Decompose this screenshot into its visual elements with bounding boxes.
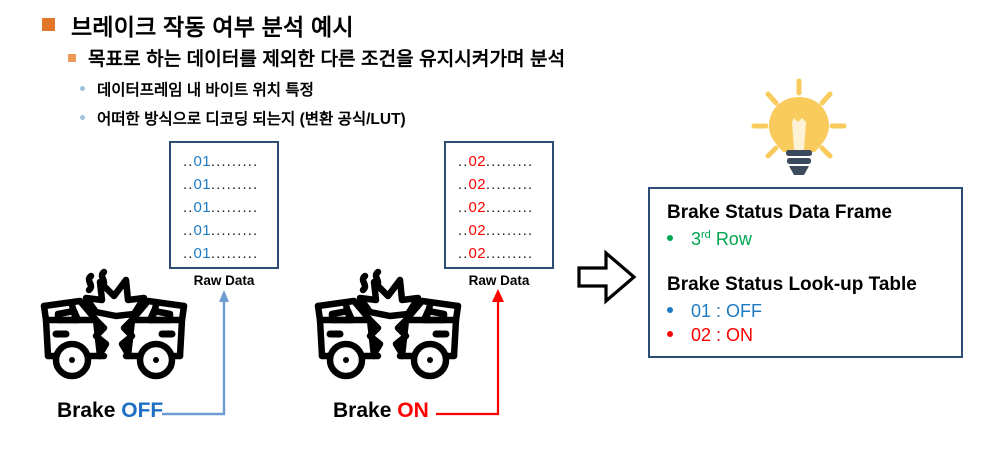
bullet-level2-label: 목표로 하는 데이터를 제외한 다른 조건을 유지시켜가며 분석 <box>88 44 565 71</box>
raw-suffix: ......... <box>486 176 533 193</box>
raw-data-box-left: ..01......... ..01......... ..01........… <box>169 141 279 269</box>
lut-item-off: 01 : OFF <box>667 301 762 322</box>
raw-data-line: ..01......... <box>171 150 277 173</box>
lut-item-on: 02 : ON <box>667 325 753 346</box>
bullet-level1: 브레이크 작동 여부 분석 예시 <box>42 8 354 42</box>
result-row-ordinal: rd <box>701 229 711 241</box>
raw-value: 02 <box>469 176 486 193</box>
lut-state: OFF <box>726 301 762 321</box>
raw-value: 01 <box>194 199 211 216</box>
raw-suffix: ......... <box>486 222 533 239</box>
red-dot-marker <box>667 331 673 337</box>
raw-prefix: .. <box>183 153 194 170</box>
raw-data-line: ..01......... <box>171 173 277 196</box>
raw-value: 02 <box>469 245 486 262</box>
raw-prefix: .. <box>183 199 194 216</box>
raw-value: 01 <box>194 153 211 170</box>
brake-on-label: Brake ON <box>333 399 429 423</box>
brake-label-prefix: Brake <box>57 399 115 422</box>
bullet-level3-a: 데이터프레임 내 바이트 위치 특정 <box>80 78 314 100</box>
lightbulb-icon <box>748 78 850 183</box>
raw-data-line: ..01......... <box>171 196 277 219</box>
lut-separator: : <box>711 301 726 321</box>
raw-suffix: ......... <box>211 245 258 262</box>
raw-suffix: ......... <box>211 153 258 170</box>
result-row-text: 3rd Row <box>691 229 752 250</box>
raw-value: 01 <box>194 245 211 262</box>
raw-prefix: .. <box>183 222 194 239</box>
result-row-item: 3rd Row <box>667 229 752 250</box>
raw-value: 02 <box>469 153 486 170</box>
raw-suffix: ......... <box>211 199 258 216</box>
lut-separator: : <box>711 325 726 345</box>
blue-dot-marker <box>667 307 673 313</box>
bullet-level3-b-label: 어떠한 방식으로 디코딩 되는지 (변환 공식/LUT) <box>97 107 406 129</box>
brake-off-label: Brake OFF <box>57 399 163 423</box>
raw-prefix: .. <box>458 176 469 193</box>
lut-item-off-text: 01 : OFF <box>691 301 762 322</box>
green-dot-marker <box>667 235 673 241</box>
lut-state: ON <box>726 325 753 345</box>
result-row-label: Row <box>716 229 752 249</box>
result-row-number: 3 <box>691 229 701 249</box>
connector-arrow-left <box>160 285 280 430</box>
lut-code: 02 <box>691 325 711 345</box>
raw-prefix: .. <box>458 199 469 216</box>
brake-label-state: ON <box>397 399 429 422</box>
raw-data-line: ..01......... <box>171 219 277 242</box>
orange-small-square-marker <box>68 54 76 62</box>
connector-arrow-right <box>434 285 554 430</box>
result-panel: Brake Status Data Frame 3rd Row Brake St… <box>648 187 963 358</box>
raw-data-line: ..02......... <box>446 150 552 173</box>
bullet-level1-label: 브레이크 작동 여부 분석 예시 <box>71 8 354 42</box>
raw-value: 02 <box>469 222 486 239</box>
raw-suffix: ......... <box>211 222 258 239</box>
raw-prefix: .. <box>458 153 469 170</box>
blue-dot-marker <box>80 86 85 91</box>
lut-code: 01 <box>691 301 711 321</box>
raw-value: 01 <box>194 176 211 193</box>
raw-suffix: ......... <box>486 199 533 216</box>
result-heading-data-frame: Brake Status Data Frame <box>667 202 892 224</box>
raw-suffix: ......... <box>486 153 533 170</box>
lut-item-on-text: 02 : ON <box>691 325 753 346</box>
raw-data-box-right: ..02......... ..02......... ..02........… <box>444 141 554 269</box>
raw-prefix: .. <box>458 222 469 239</box>
raw-data-line: ..02......... <box>446 219 552 242</box>
brake-label-prefix: Brake <box>333 399 391 422</box>
bullet-level3-b: 어떠한 방식으로 디코딩 되는지 (변환 공식/LUT) <box>80 107 406 129</box>
blue-dot-marker <box>80 115 85 120</box>
orange-square-marker <box>42 18 55 31</box>
raw-value: 01 <box>194 222 211 239</box>
brake-label-state: OFF <box>121 399 163 422</box>
bullet-level2: 목표로 하는 데이터를 제외한 다른 조건을 유지시켜가며 분석 <box>68 44 565 71</box>
raw-suffix: ......... <box>486 245 533 262</box>
bullet-level3-a-label: 데이터프레임 내 바이트 위치 특정 <box>97 78 314 100</box>
block-arrow-right-icon <box>576 246 638 313</box>
raw-value: 02 <box>469 199 486 216</box>
raw-prefix: .. <box>183 176 194 193</box>
raw-data-line: ..02......... <box>446 173 552 196</box>
result-heading-lookup-table: Brake Status Look-up Table <box>667 274 917 296</box>
raw-suffix: ......... <box>211 176 258 193</box>
raw-data-line: ..02......... <box>446 196 552 219</box>
